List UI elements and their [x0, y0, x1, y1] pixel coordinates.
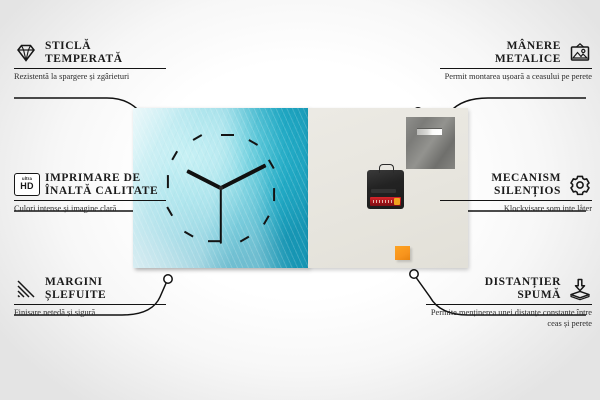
- foam-spacer: [395, 246, 410, 260]
- callout-print: ultra HD IMPRIMARE DE ÎNALTĂ CALITATE Cu…: [14, 172, 166, 215]
- gear-icon: [568, 173, 592, 197]
- clock-second-hand: [220, 188, 222, 244]
- callout-desc-spacer: Permite menținerea unei distanțe constan…: [426, 308, 592, 328]
- callout-edges: MARGINI ȘLEFUITE Finisare netedă și sigu…: [14, 276, 166, 319]
- clock-tick: [272, 188, 274, 201]
- ultra-hd-main-text: HD: [20, 182, 33, 191]
- metal-hanger-plate: [406, 117, 455, 169]
- callout-title-mechanism: MECANISM SILENȚIOS: [491, 172, 561, 197]
- battery-label: [373, 200, 393, 203]
- ultra-hd-icon: ultra HD: [14, 173, 38, 197]
- callout-title-print: IMPRIMARE DE ÎNALTĂ CALITATE: [45, 172, 158, 197]
- anchor-dot-spacer: [410, 270, 418, 278]
- diamond-icon: [14, 41, 38, 65]
- callout-title-handles: MÂNERE METALICE: [495, 40, 561, 65]
- callout-desc-glass: Rezistentă la spargere și zgârieturi: [14, 72, 166, 82]
- clock-tick: [208, 240, 221, 242]
- hatch-lines-icon: [14, 277, 38, 301]
- callout-title-spacer: DISTANȚIER SPUMĂ: [485, 276, 561, 301]
- arrow-press-pad-icon: [568, 277, 592, 301]
- callout-mechanism: MECANISM SILENȚIOS Klockvisare som inte …: [440, 172, 592, 215]
- mechanism-hook: [379, 164, 394, 173]
- divider: [14, 200, 166, 201]
- battery-plus-terminal: [394, 198, 400, 205]
- callout-title-glass: STICLĂ TEMPERATĂ: [45, 40, 123, 65]
- battery: [370, 197, 401, 206]
- clock-tick: [166, 175, 168, 188]
- callout-handles: MÂNERE METALICE Permit montarea ușoară a…: [440, 40, 592, 83]
- hanger-keyhole-slot: [417, 128, 442, 135]
- callout-desc-mechanism: Klockvisare som inte låter: [440, 204, 592, 214]
- divider: [440, 200, 592, 201]
- divider: [426, 304, 592, 305]
- clock-center-pin: [219, 186, 223, 190]
- callout-desc-edges: Finisare netedă și sigură: [14, 308, 166, 318]
- mechanism-slot: [371, 189, 396, 193]
- infographic-canvas: STICLĂ TEMPERATĂ Rezistentă la spargere …: [0, 0, 600, 400]
- callout-desc-handles: Permit montarea ușoară a ceasului pe per…: [440, 72, 592, 82]
- divider: [14, 68, 166, 69]
- clock-mechanism: [367, 170, 404, 209]
- divider: [14, 304, 166, 305]
- callout-title-edges: MARGINI ȘLEFUITE: [45, 276, 106, 301]
- callout-glass: STICLĂ TEMPERATĂ Rezistentă la spargere …: [14, 40, 166, 83]
- hanging-frame-icon: [568, 41, 592, 65]
- divider: [440, 68, 592, 69]
- callout-desc-print: Culori intense și imagine clară: [14, 204, 166, 214]
- callout-spacer: DISTANȚIER SPUMĂ Permite menținerea unei…: [426, 276, 592, 329]
- clock-tick: [221, 134, 234, 136]
